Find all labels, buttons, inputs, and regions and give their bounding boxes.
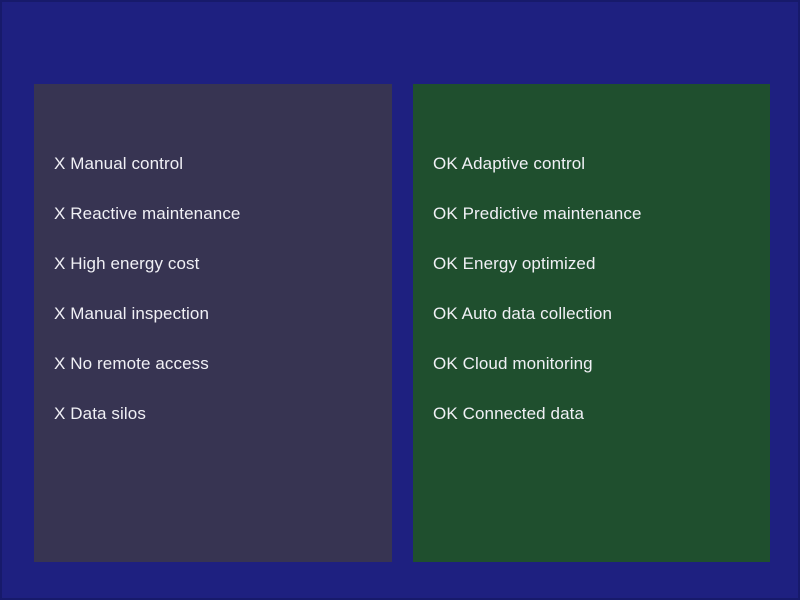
list-item-label: Predictive maintenance xyxy=(463,204,642,223)
slide-canvas: X Manual controlX Reactive maintenanceX … xyxy=(0,0,800,600)
list-item-label: High energy cost xyxy=(70,254,199,273)
ok-marker-icon: OK xyxy=(433,354,458,373)
list-item: OK Auto data collection xyxy=(433,303,612,325)
list-item: OK Predictive maintenance xyxy=(433,203,642,225)
ok-marker-icon: OK xyxy=(433,204,458,223)
x-marker-icon: X xyxy=(54,304,65,323)
list-item-label: Energy optimized xyxy=(463,254,596,273)
x-marker-icon: X xyxy=(54,354,65,373)
x-marker-icon: X xyxy=(54,404,65,423)
before-state-panel: X Manual controlX Reactive maintenanceX … xyxy=(34,84,392,562)
ok-marker-icon: OK xyxy=(433,254,458,273)
list-item: X Data silos xyxy=(54,403,146,425)
list-item: OK Energy optimized xyxy=(433,253,596,275)
list-item-label: Manual control xyxy=(70,154,183,173)
list-item: OK Connected data xyxy=(433,403,584,425)
list-item-label: Data silos xyxy=(70,404,146,423)
list-item-label: Auto data collection xyxy=(462,304,612,323)
list-item: OK Cloud monitoring xyxy=(433,353,593,375)
list-item-label: Cloud monitoring xyxy=(463,354,593,373)
ok-marker-icon: OK xyxy=(433,154,458,173)
x-marker-icon: X xyxy=(54,254,65,273)
list-item: OK Adaptive control xyxy=(433,153,585,175)
ok-marker-icon: OK xyxy=(433,404,458,423)
list-item: X No remote access xyxy=(54,353,209,375)
list-item-label: Connected data xyxy=(463,404,584,423)
ok-marker-icon: OK xyxy=(433,304,458,323)
list-item-label: Adaptive control xyxy=(462,154,586,173)
list-item: X High energy cost xyxy=(54,253,199,275)
after-state-panel: OK Adaptive controlOK Predictive mainten… xyxy=(413,84,770,562)
x-marker-icon: X xyxy=(54,204,65,223)
x-marker-icon: X xyxy=(54,154,65,173)
list-item-label: Manual inspection xyxy=(70,304,209,323)
list-item: X Reactive maintenance xyxy=(54,203,241,225)
list-item: X Manual inspection xyxy=(54,303,209,325)
list-item-label: Reactive maintenance xyxy=(70,204,240,223)
list-item-label: No remote access xyxy=(70,354,209,373)
list-item: X Manual control xyxy=(54,153,183,175)
